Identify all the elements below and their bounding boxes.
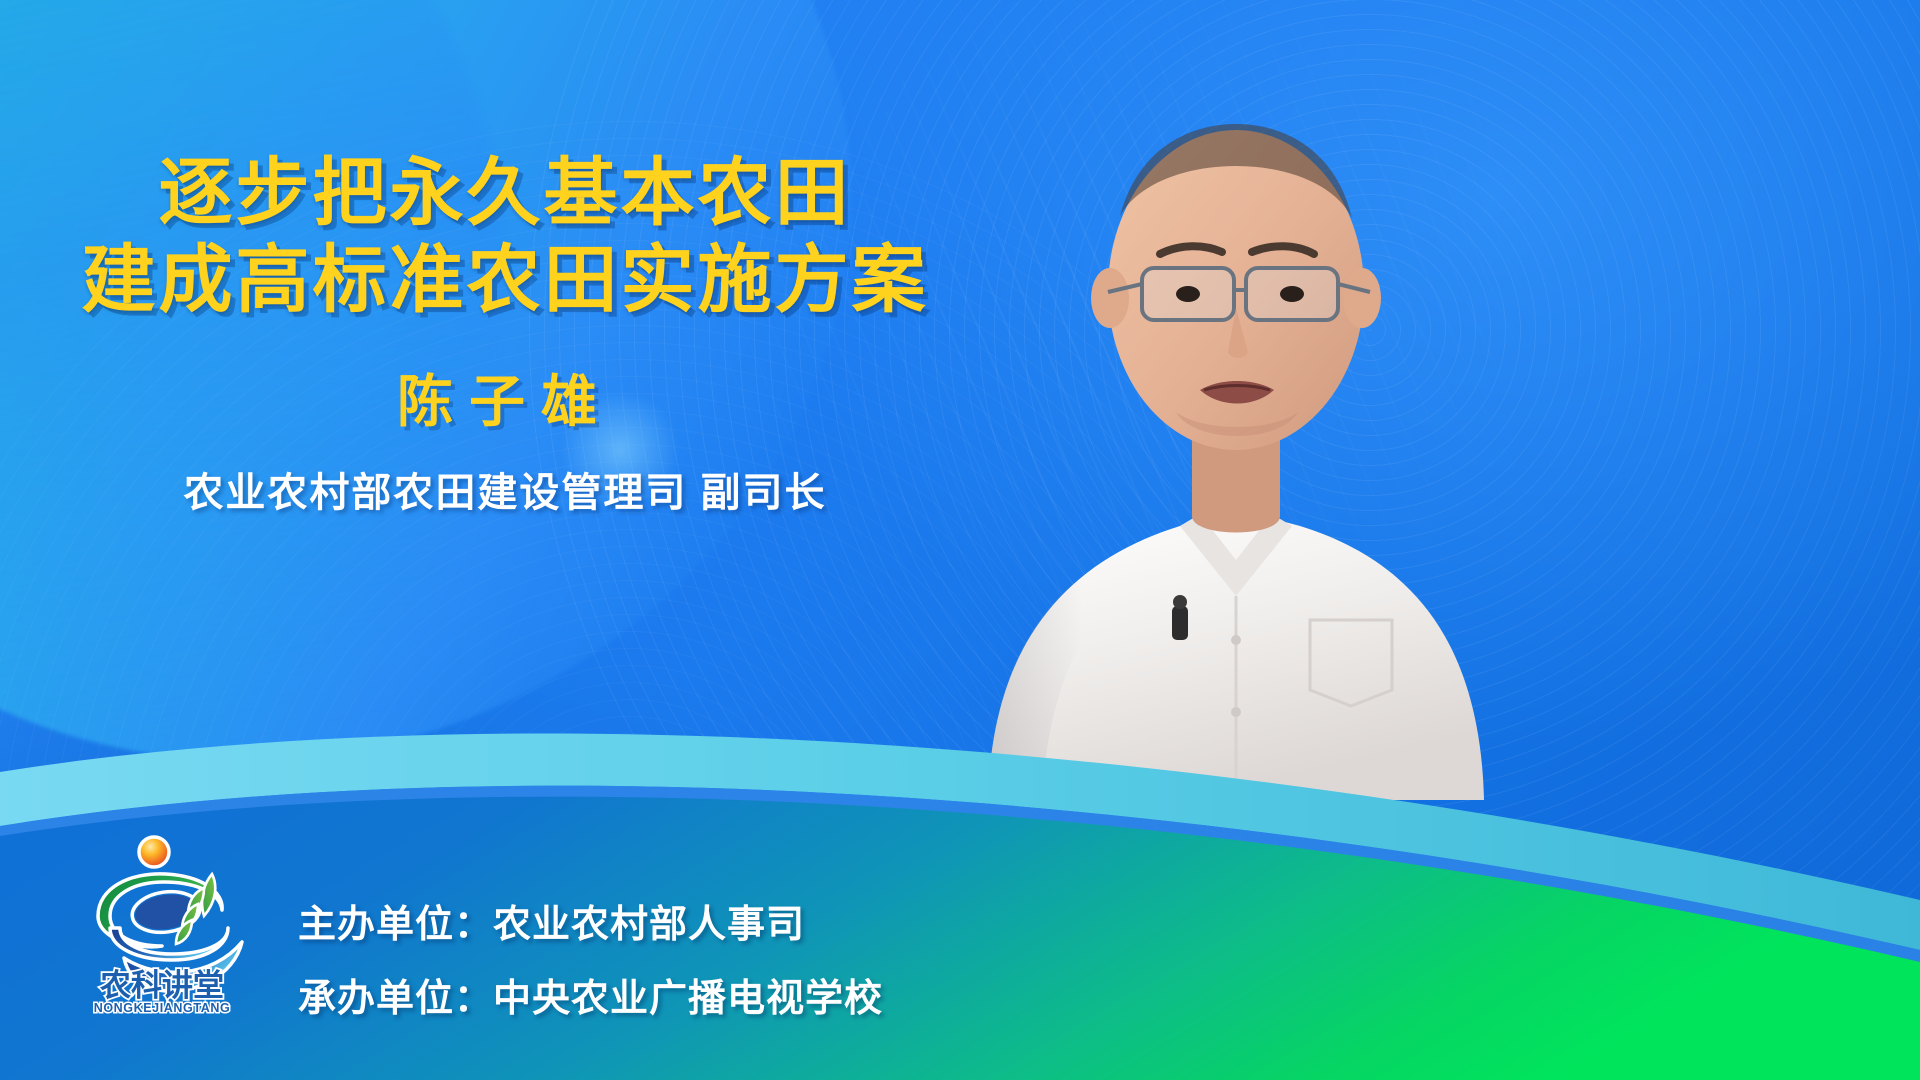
title-line-1: 逐步把永久基本农田 xyxy=(0,150,1010,237)
speaker-role: 农业农村部农田建设管理司 副司长 xyxy=(0,460,1010,518)
svg-text:NONGKEJIANGTANG: NONGKEJIANGTANG xyxy=(94,1001,231,1015)
title-block: 逐步把永久基本农田 建成高标准农田实施方案 陈子雄 农业农村部农田建设管理司 副… xyxy=(0,150,1010,518)
organizer-block: 主办单位：农业农村部人事司 承办单位：中央农业广播电视学校 xyxy=(298,906,883,1018)
presentation-slide: 逐步把永久基本农田 建成高标准农田实施方案 陈子雄 农业农村部农田建设管理司 副… xyxy=(0,0,1920,1080)
svg-text:农科讲堂: 农科讲堂 xyxy=(100,968,224,1003)
wave-divider-band xyxy=(0,650,1920,1080)
speaker-name: 陈子雄 xyxy=(0,357,1010,438)
program-logo: 农科讲堂 农科讲堂 NONGKEJIANGTANG NONGKEJIANGTAN… xyxy=(62,830,262,1020)
title-line-2: 建成高标准农田实施方案 xyxy=(0,237,1010,324)
host-line: 承办单位：中央农业广播电视学校 xyxy=(298,980,883,1018)
organizer-line: 主办单位：农业农村部人事司 xyxy=(298,906,883,944)
